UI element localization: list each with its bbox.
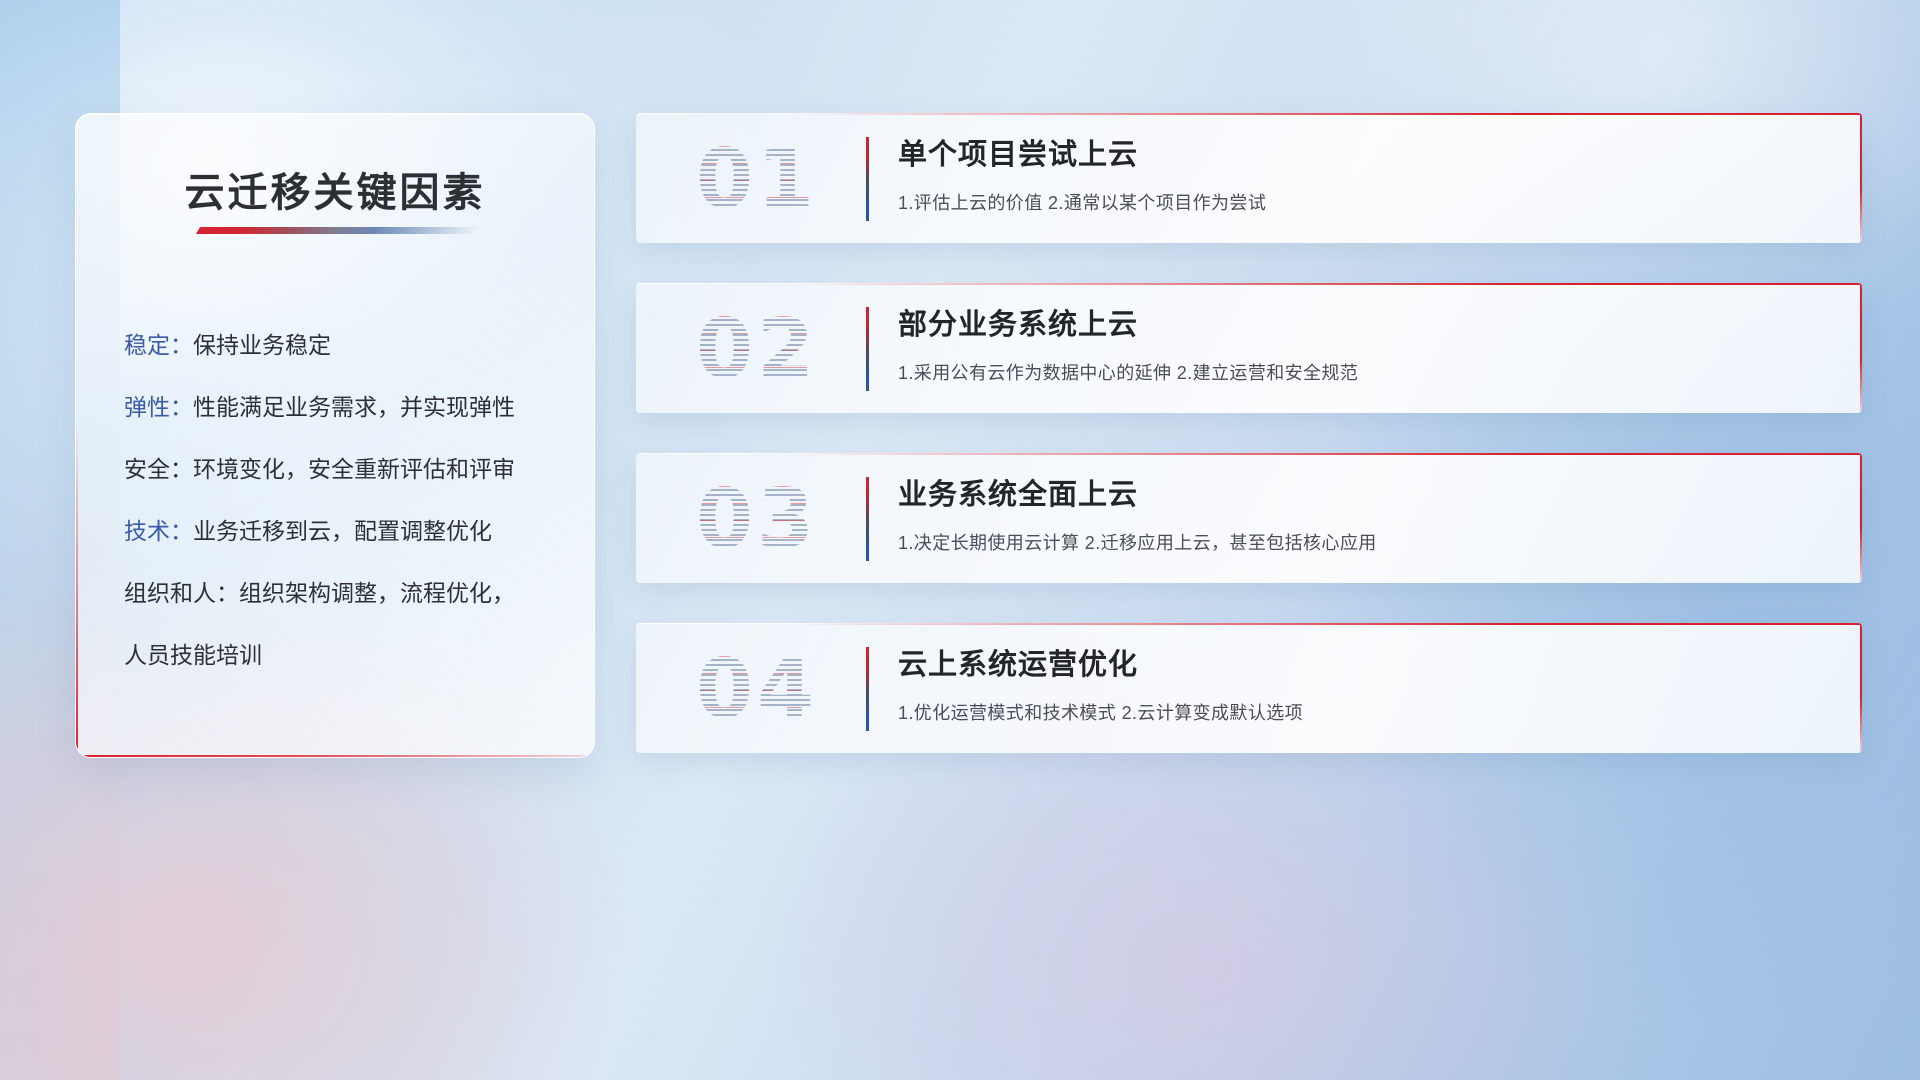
card-heading: 业务系统全面上云 — [898, 473, 1838, 517]
factor-key: 安全： — [124, 456, 193, 482]
factor-key: 稳定： — [124, 332, 193, 358]
card-heading: 部分业务系统上云 — [898, 303, 1838, 347]
factor-list: 稳定：保持业务稳定 弹性：性能满足业务需求，并实现弹性 安全：环境变化，安全重新… — [124, 314, 564, 686]
list-item: 人员技能培训 — [124, 624, 564, 686]
stage-card[interactable]: 03 03 业务系统全面上云 1.决定长期使用云计算 2.迁移应用上云，甚至包括… — [636, 453, 1862, 583]
title-underline-accent — [196, 227, 480, 234]
card-right-accent-border — [1860, 623, 1862, 753]
list-item: 安全：环境变化，安全重新评估和评审 — [124, 438, 564, 500]
factor-key: 技术： — [124, 518, 193, 544]
slide-stage: 云迁移关键因素 稳定：保持业务稳定 弹性：性能满足业务需求，并实现弹性 安全：环… — [0, 0, 1920, 1080]
card-body: 业务系统全面上云 1.决定长期使用云计算 2.迁移应用上云，甚至包括核心应用 — [898, 473, 1838, 555]
stage-card[interactable]: 01 01 单个项目尝试上云 1.评估上云的价值 2.通常以某个项目作为尝试 — [636, 113, 1862, 243]
card-description: 1.采用公有云作为数据中心的延伸 2.建立运营和安全规范 — [898, 359, 1838, 385]
stage-number-ghost-tint: 01 — [662, 129, 852, 229]
card-heading: 单个项目尝试上云 — [898, 133, 1838, 177]
card-top-accent-border — [783, 113, 1862, 115]
card-divider-accent — [866, 477, 869, 561]
card-heading: 云上系统运营优化 — [898, 643, 1838, 687]
list-item: 弹性：性能满足业务需求，并实现弹性 — [124, 376, 564, 438]
card-right-accent-border — [1860, 283, 1862, 413]
card-body: 单个项目尝试上云 1.评估上云的价值 2.通常以某个项目作为尝试 — [898, 133, 1838, 215]
factor-key: 组织和人： — [124, 580, 239, 606]
key-factors-panel: 云迁移关键因素 稳定：保持业务稳定 弹性：性能满足业务需求，并实现弹性 安全：环… — [75, 113, 595, 758]
card-description: 1.评估上云的价值 2.通常以某个项目作为尝试 — [898, 189, 1838, 215]
factor-key: 弹性： — [124, 394, 193, 420]
stage-number-ghost-tint: 02 — [662, 299, 852, 399]
card-divider-accent — [866, 137, 869, 221]
card-divider-accent — [866, 647, 869, 731]
list-item: 稳定：保持业务稳定 — [124, 314, 564, 376]
list-item: 组织和人：组织架构调整，流程优化， — [124, 562, 564, 624]
card-description: 1.优化运营模式和技术模式 2.云计算变成默认选项 — [898, 699, 1838, 725]
stage-number-ghost-tint: 04 — [662, 639, 852, 739]
factor-text: 组织架构调整，流程优化， — [239, 580, 515, 606]
factor-text: 性能满足业务需求，并实现弹性 — [193, 394, 515, 420]
list-item: 技术：业务迁移到云，配置调整优化 — [124, 500, 564, 562]
card-divider-accent — [866, 307, 869, 391]
stage-card[interactable]: 02 02 部分业务系统上云 1.采用公有云作为数据中心的延伸 2.建立运营和安… — [636, 283, 1862, 413]
stage-card-list: 01 01 单个项目尝试上云 1.评估上云的价值 2.通常以某个项目作为尝试 0… — [636, 113, 1862, 793]
factor-text: 人员技能培训 — [124, 642, 262, 668]
factor-text: 业务迁移到云，配置调整优化 — [193, 518, 492, 544]
stage-card[interactable]: 04 04 云上系统运营优化 1.优化运营模式和技术模式 2.云计算变成默认选项 — [636, 623, 1862, 753]
card-top-accent-border — [783, 453, 1862, 455]
card-right-accent-border — [1860, 113, 1862, 243]
card-top-accent-border — [783, 623, 1862, 625]
factor-text: 环境变化，安全重新评估和评审 — [193, 456, 515, 482]
card-description: 1.决定长期使用云计算 2.迁移应用上云，甚至包括核心应用 — [898, 529, 1838, 555]
card-body: 云上系统运营优化 1.优化运营模式和技术模式 2.云计算变成默认选项 — [898, 643, 1838, 725]
factor-text: 保持业务稳定 — [193, 332, 331, 358]
card-right-accent-border — [1860, 453, 1862, 583]
stage-number-ghost-tint: 03 — [662, 469, 852, 569]
page-title: 云迁移关键因素 — [76, 160, 594, 218]
card-body: 部分业务系统上云 1.采用公有云作为数据中心的延伸 2.建立运营和安全规范 — [898, 303, 1838, 385]
card-top-accent-border — [783, 283, 1862, 285]
